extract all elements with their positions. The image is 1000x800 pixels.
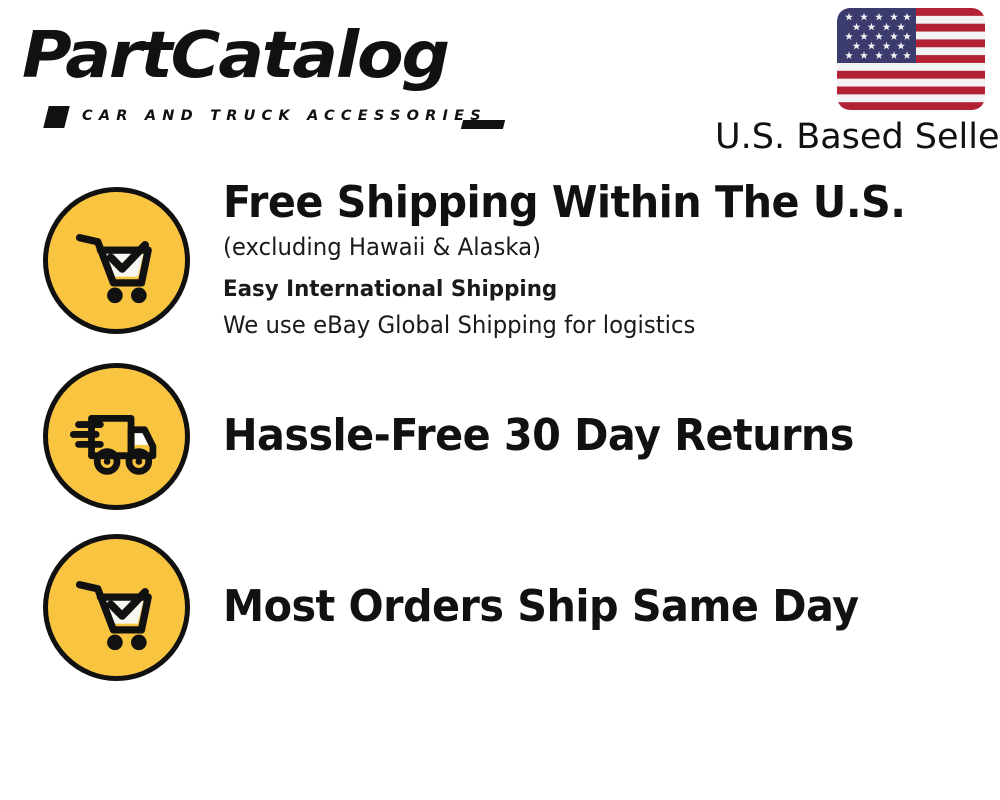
brand-tagline: CAR AND TRUCK ACCESSORIES xyxy=(82,108,487,124)
shopping-cart-check-icon xyxy=(43,534,190,681)
us-based-seller-badge: U.S. Based Seller xyxy=(715,8,985,158)
feature-text: Hassle-Free 30 Day Returns xyxy=(223,410,1000,462)
feature-heading: Most Orders Ship Same Day xyxy=(223,581,935,633)
logo-flourish-right-icon xyxy=(461,120,505,129)
delivery-truck-icon xyxy=(43,363,190,510)
feature-subtext: We use eBay Global Shipping for logistic… xyxy=(223,307,942,343)
feature-subtext: (excluding Hawaii & Alaska) xyxy=(223,229,942,265)
feature-list: Free Shipping Within The U.S. (excluding… xyxy=(0,170,1000,692)
brand-logo[interactable]: PartCatalog CAR AND TRUCK ACCESSORIES xyxy=(22,20,492,120)
feature-heading: Free Shipping Within The U.S. xyxy=(223,177,935,229)
us-flag-icon xyxy=(837,8,985,110)
feature-subtext-bold: Easy International Shipping xyxy=(223,271,942,307)
feature-row: Free Shipping Within The U.S. (excluding… xyxy=(0,170,1000,350)
feature-text: Free Shipping Within The U.S. (excluding… xyxy=(223,177,1000,343)
feature-row: Hassle-Free 30 Day Returns xyxy=(0,350,1000,522)
feature-heading: Hassle-Free 30 Day Returns xyxy=(223,410,935,462)
page-header: PartCatalog CAR AND TRUCK ACCESSORIES xyxy=(0,0,1000,170)
shopping-cart-check-icon xyxy=(43,187,190,334)
logo-flourish-left-icon xyxy=(43,106,69,128)
us-based-seller-label: U.S. Based Seller xyxy=(715,116,985,158)
brand-wordmark: PartCatalog xyxy=(22,20,448,92)
feature-text: Most Orders Ship Same Day xyxy=(223,581,1000,633)
feature-row: Most Orders Ship Same Day xyxy=(0,522,1000,692)
